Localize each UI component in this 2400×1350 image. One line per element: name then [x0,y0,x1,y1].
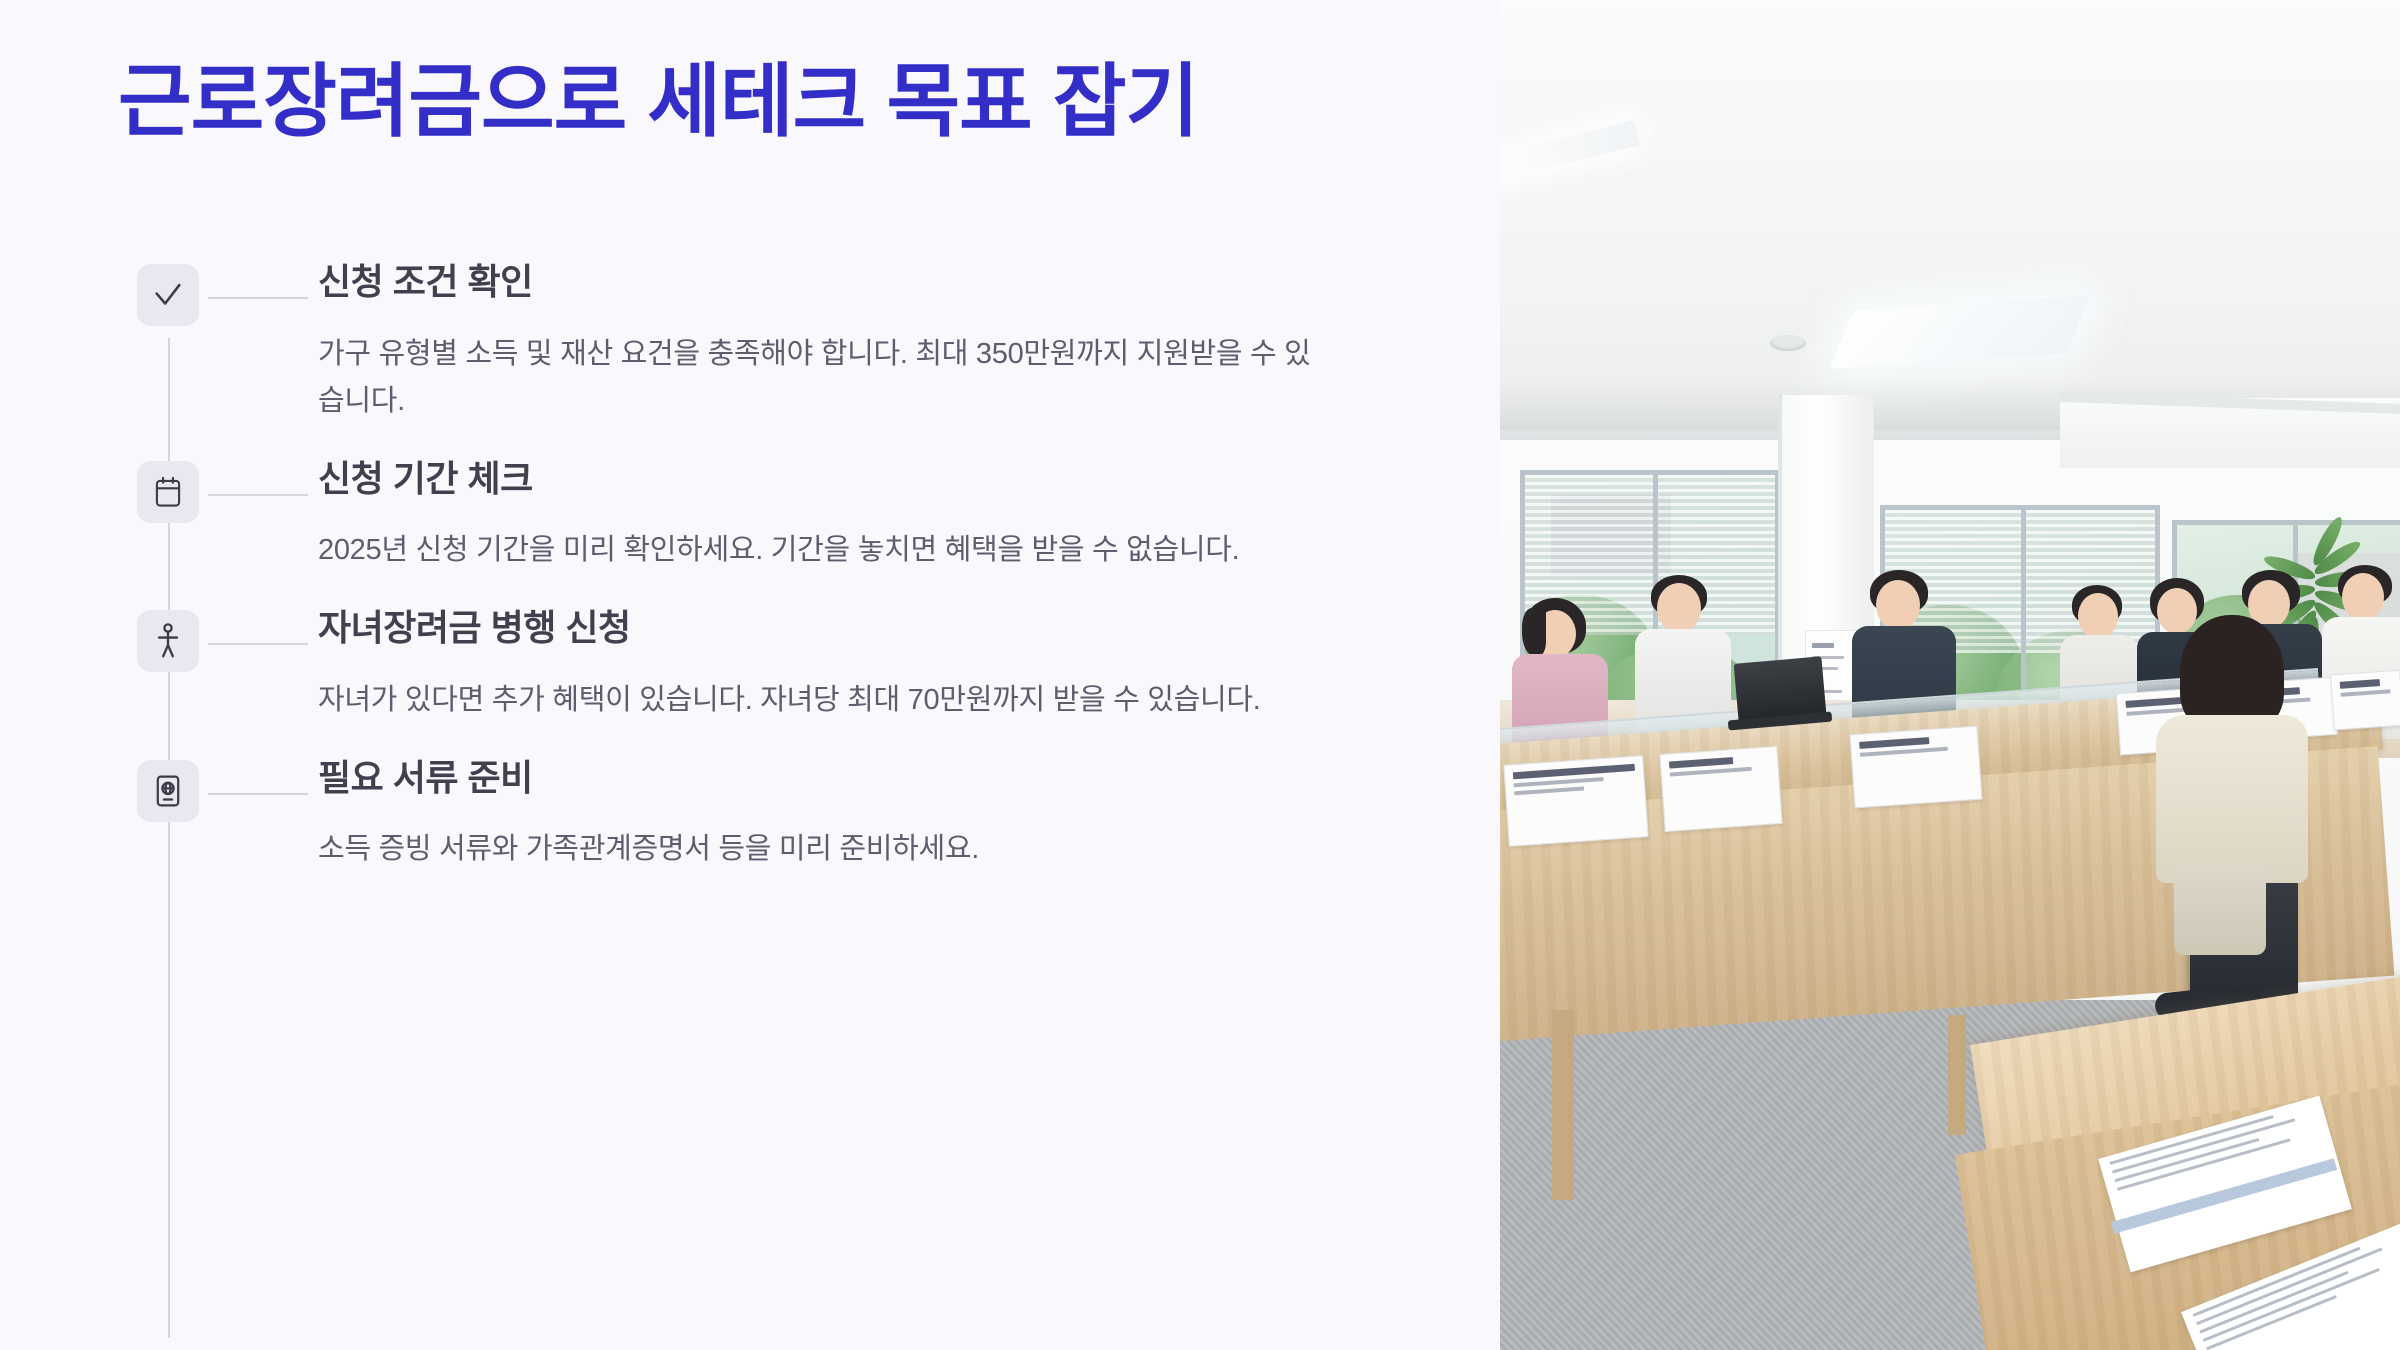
timeline-content-1: 신청 조건 확인 가구 유형별 소득 및 재산 요건을 충족해야 합니다. 최대… [318,258,1338,425]
timeline-list: 신청 조건 확인 가구 유형별 소득 및 재산 요건을 충족해야 합니다. 최대… [118,258,1378,873]
timeline-connector-4 [208,793,308,795]
desk-leg-mid [1948,1015,1966,1135]
slide-root: 근로장려금으로 세테크 목표 잡기 신청 조건 확인 [0,0,2400,1350]
check-icon [151,278,185,312]
timeline-content-4: 필요 서류 준비 소득 증빙 서류와 가족관계증명서 등을 미리 준비하세요. [318,754,1338,874]
calendar-icon [153,476,183,508]
counter-sign-6 [2330,670,2400,731]
timeline-item-desc: 가구 유형별 소득 및 재산 요건을 충족해야 합니다. 최대 350만원까지 … [318,331,1328,425]
timeline-item-title: 신청 조건 확인 [318,258,1338,307]
icon-chip-2 [137,461,199,523]
counter-sign-3 [1850,726,1983,809]
person-seated-visitor [2150,615,2310,945]
timeline-item-desc: 자녀가 있다면 추가 혜택이 있습니다. 자녀당 최대 70만원까지 받을 수 … [318,677,1328,724]
counter-sign-1 [1503,755,1648,847]
office-photo [1500,0,2400,1350]
timeline-item-desc: 2025년 신청 기간을 미리 확인하세요. 기간을 놓치면 혜택을 받을 수 … [318,527,1328,574]
icon-chip-1 [137,264,199,326]
timeline-connector-3 [208,643,308,645]
ceiling [1500,0,2400,430]
child-person-icon [155,623,181,659]
ceiling-speaker [1770,335,1806,351]
timeline-node-1 [118,258,218,326]
counter-sign-2 [1659,746,1782,832]
timeline-item-2: 신청 기간 체크 2025년 신청 기간을 미리 확인하세요. 기간을 놓치면 … [118,455,1378,575]
page-title: 근로장려금으로 세테크 목표 잡기 [118,58,1198,146]
timeline-node-3 [118,604,218,672]
timeline-node-4 [118,754,218,822]
timeline-content-3: 자녀장려금 병행 신청 자녀가 있다면 추가 혜택이 있습니다. 자녀당 최대 … [318,604,1338,724]
timeline-item-desc: 소득 증빙 서류와 가족관계증명서 등을 미리 준비하세요. [318,826,1328,873]
laptop-screen-1 [1734,656,1827,721]
desk-leg-left [1552,1010,1574,1200]
timeline-node-2 [118,455,218,523]
timeline-connector-1 [208,297,308,299]
timeline-item-title: 자녀장려금 병행 신청 [318,604,1338,653]
icon-chip-3 [137,610,199,672]
timeline-item-1: 신청 조건 확인 가구 유형별 소득 및 재산 요건을 충족해야 합니다. 최대… [118,258,1378,425]
timeline-item-3: 자녀장려금 병행 신청 자녀가 있다면 추가 혜택이 있습니다. 자녀당 최대 … [118,604,1378,724]
timeline-item-title: 필요 서류 준비 [318,754,1338,803]
timeline-item-4: 필요 서류 준비 소득 증빙 서류와 가족관계증명서 등을 미리 준비하세요. [118,754,1378,874]
timeline-item-title: 신청 기간 체크 [318,455,1338,504]
timeline-content-2: 신청 기간 체크 2025년 신청 기간을 미리 확인하세요. 기간을 놓치면 … [318,455,1338,575]
timeline-connector-2 [208,494,308,496]
icon-chip-4 [137,760,199,822]
passport-document-icon [154,774,182,808]
left-content-panel: 근로장려금으로 세테크 목표 잡기 신청 조건 확인 [0,0,1500,1350]
